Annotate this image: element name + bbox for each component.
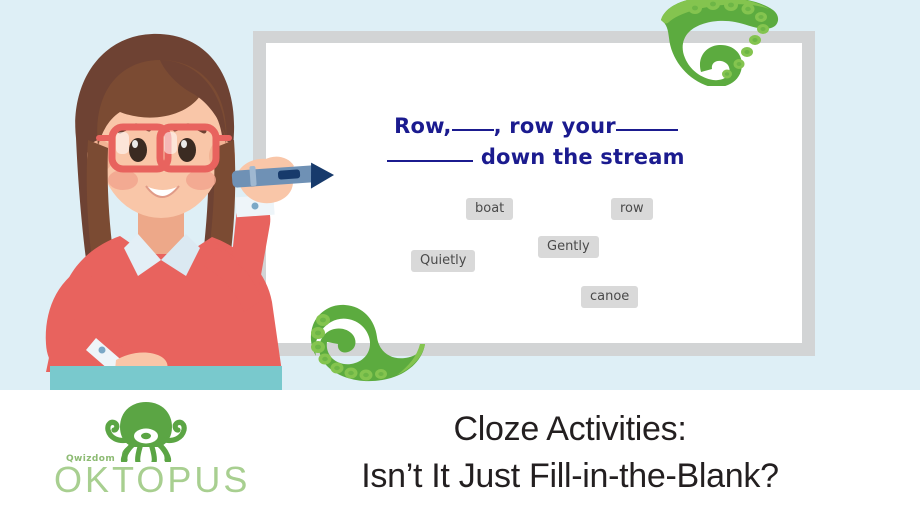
illustration-scene: Row,, row your down the stream boat row …: [0, 0, 920, 390]
slide-canvas: Row,, row your down the stream boat row …: [0, 0, 920, 517]
logo-brand-word: OKTOPUS: [54, 462, 250, 498]
cloze-line2-part1: down the stream: [481, 145, 685, 169]
word-tile-row[interactable]: row: [611, 198, 653, 220]
cloze-sentence: Row,, row your down the stream: [286, 111, 786, 173]
octopus-icon: [98, 400, 194, 462]
word-tile-boat[interactable]: boat: [466, 198, 513, 220]
cloze-blank-1[interactable]: [452, 129, 494, 131]
page-title-line-2: Isn’t It Just Fill-in-the-Blank?: [240, 453, 900, 500]
word-tile-gently[interactable]: Gently: [538, 236, 599, 258]
oktopus-logo[interactable]: Qwizdom OKTOPUS: [30, 398, 225, 508]
cloze-line1-part2: , row your: [494, 114, 616, 138]
word-tile-quietly[interactable]: Quietly: [411, 250, 475, 272]
teacher-illustration: [20, 20, 340, 390]
octopus-tentacle-top-right-icon: [655, 0, 785, 86]
cloze-blank-2[interactable]: [616, 129, 678, 131]
cloze-line1-part1: Row,: [394, 114, 451, 138]
footer-banner: Qwizdom OKTOPUS Cloze Activities: Isn’t …: [0, 390, 920, 517]
cloze-blank-3[interactable]: [387, 160, 473, 162]
page-title-line-1: Cloze Activities:: [240, 406, 900, 453]
word-tile-canoe[interactable]: canoe: [581, 286, 638, 308]
page-title: Cloze Activities: Isn’t It Just Fill-in-…: [240, 406, 900, 500]
